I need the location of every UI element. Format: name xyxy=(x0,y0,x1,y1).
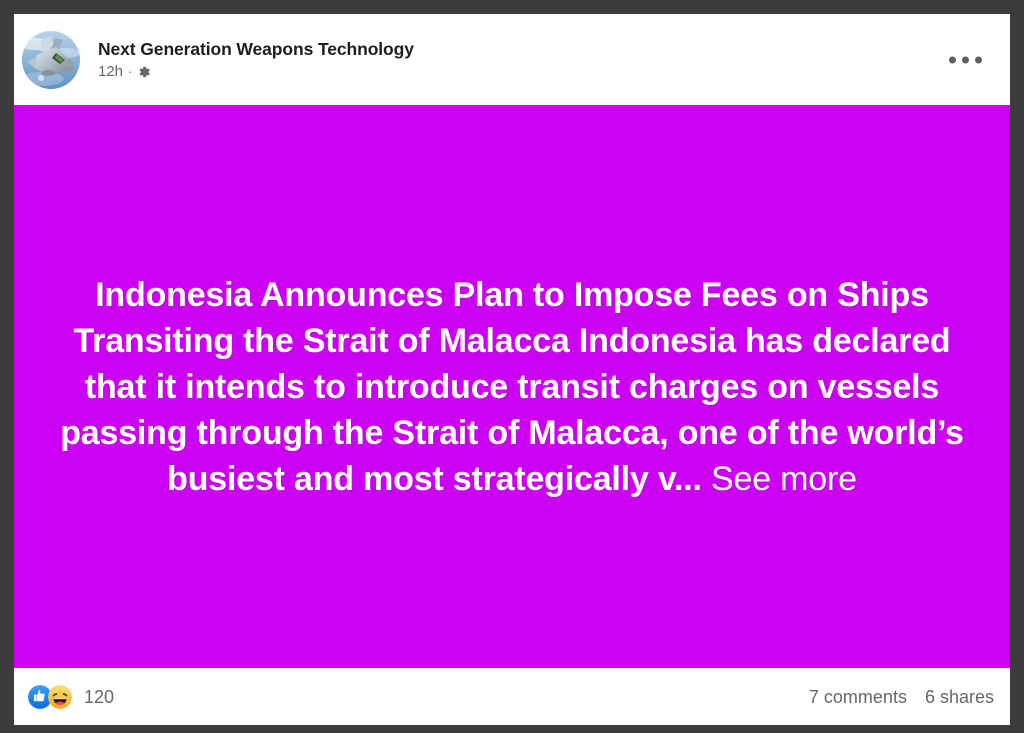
facebook-post-card: Next Generation Weapons Technology 12h ·… xyxy=(14,14,1010,725)
haha-reaction-icon xyxy=(48,685,72,709)
post-stats: 7 comments 6 shares xyxy=(809,686,994,708)
reaction-icon-group xyxy=(28,685,72,709)
post-meta: 12h · xyxy=(98,63,414,81)
see-more-link[interactable]: See more xyxy=(702,460,857,498)
reaction-count: 120 xyxy=(84,686,114,708)
page-name[interactable]: Next Generation Weapons Technology xyxy=(98,39,414,59)
comments-count[interactable]: 7 comments xyxy=(809,686,907,708)
post-footer: 120 7 comments 6 shares xyxy=(14,668,1010,725)
ellipsis-icon[interactable] xyxy=(949,56,982,63)
ellipsis-dot xyxy=(975,56,982,63)
post-timestamp[interactable]: 12h xyxy=(98,63,123,81)
post-text-block: Indonesia Announces Plan to Impose Fees … xyxy=(60,272,964,502)
avatar[interactable] xyxy=(22,31,80,89)
ellipsis-dot xyxy=(949,56,956,63)
post-header: Next Generation Weapons Technology 12h · xyxy=(14,14,1010,105)
shares-count[interactable]: 6 shares xyxy=(925,686,994,708)
ellipsis-dot xyxy=(962,56,969,63)
reactions-summary[interactable]: 120 xyxy=(28,685,114,709)
post-body[interactable]: Indonesia Announces Plan to Impose Fees … xyxy=(14,105,1010,668)
meta-separator: · xyxy=(128,63,132,81)
post-author-block: Next Generation Weapons Technology 12h · xyxy=(98,39,414,81)
gear-icon[interactable] xyxy=(137,65,151,79)
